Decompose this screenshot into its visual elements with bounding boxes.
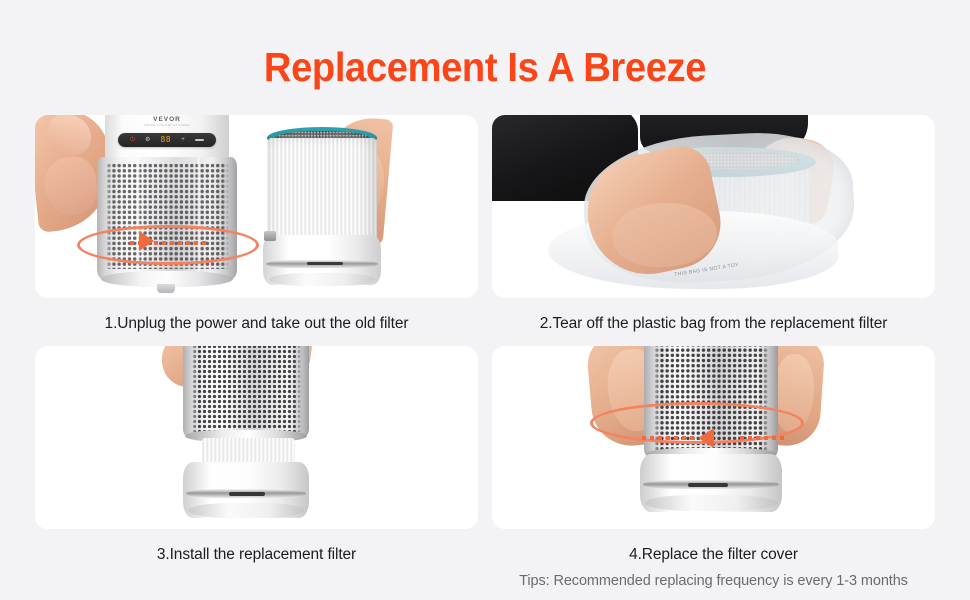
base-chrome-label [688, 483, 728, 487]
control-panel[interactable]: ⏻ ⚙ 88 + [118, 133, 216, 147]
filter-clip [264, 231, 276, 241]
step-cell-3: 3.Install the replacement filter [35, 346, 478, 589]
step-image-4 [492, 346, 935, 529]
rotation-arrow-dots-left-icon [642, 436, 696, 440]
base-bottom-ring [645, 495, 777, 511]
step-cell-2: THIS BAG IS NOT A TOY 2.Tear off the pla… [492, 115, 935, 346]
infographic-page: Replacement Is A Breeze VEVOR TOUGH TOOL… [0, 0, 970, 600]
page-title: Replacement Is A Breeze [34, 44, 936, 91]
perforated-mesh-cover [183, 346, 309, 436]
base-chrome-label [229, 492, 265, 496]
vevor-logo: VEVOR [105, 116, 229, 123]
step-caption-1: 1.Unplug the power and take out the old … [35, 298, 478, 346]
rotation-arrow-head-icon [139, 231, 154, 251]
purifier-foot [157, 284, 175, 293]
replacement-filter [263, 127, 381, 285]
mesh-seam-right [197, 157, 200, 279]
fan-speed-icon[interactable]: ⚙ [145, 137, 150, 143]
vevor-tagline: TOUGH TOOLS BUILT TOUGH [105, 124, 229, 127]
step-cell-4: 4.Replace the filter cover Tips: Recomme… [492, 346, 935, 589]
plus-icon[interactable]: + [181, 137, 185, 143]
filter-bottom-ring [269, 273, 375, 286]
step-caption-2: 2.Tear off the plastic bag from the repl… [492, 298, 935, 346]
step-image-3 [35, 346, 478, 529]
perforated-mesh-cover [97, 157, 237, 279]
power-icon[interactable]: ⏻ [130, 137, 135, 143]
filter-pleated-body [267, 138, 377, 246]
air-purifier-unit: VEVOR TOUGH TOOLS BUILT TOUGH ⏻ ⚙ 88 + [97, 115, 237, 291]
filter-chrome-label [307, 262, 343, 265]
scene-replace-cover [492, 346, 935, 529]
step-caption-3: 3.Install the replacement filter [35, 529, 478, 577]
scene-install-filter [35, 346, 478, 529]
base-bottom-ring [188, 503, 304, 518]
steps-grid: VEVOR TOUGH TOOLS BUILT TOUGH ⏻ ⚙ 88 + [35, 115, 935, 589]
step-caption-4: 4.Replace the filter cover [492, 529, 935, 577]
step-image-1: VEVOR TOUGH TOOLS BUILT TOUGH ⏻ ⚙ 88 + [35, 115, 478, 298]
scene-tear-bag: THIS BAG IS NOT A TOY [492, 115, 935, 298]
scene-unplug-filter: VEVOR TOUGH TOOLS BUILT TOUGH ⏻ ⚙ 88 + [35, 115, 478, 298]
step-cell-1: VEVOR TOUGH TOOLS BUILT TOUGH ⏻ ⚙ 88 + [35, 115, 478, 346]
mesh-seam-left [137, 157, 140, 279]
rotation-arrow-dots-right-icon [740, 436, 784, 440]
rotation-arrow-head-icon [698, 428, 714, 448]
minus-icon[interactable] [195, 139, 204, 142]
timer-display: 88 [160, 136, 171, 144]
step-image-2: THIS BAG IS NOT A TOY [492, 115, 935, 298]
tips-text: Tips: Recommended replacing frequency is… [492, 573, 935, 589]
